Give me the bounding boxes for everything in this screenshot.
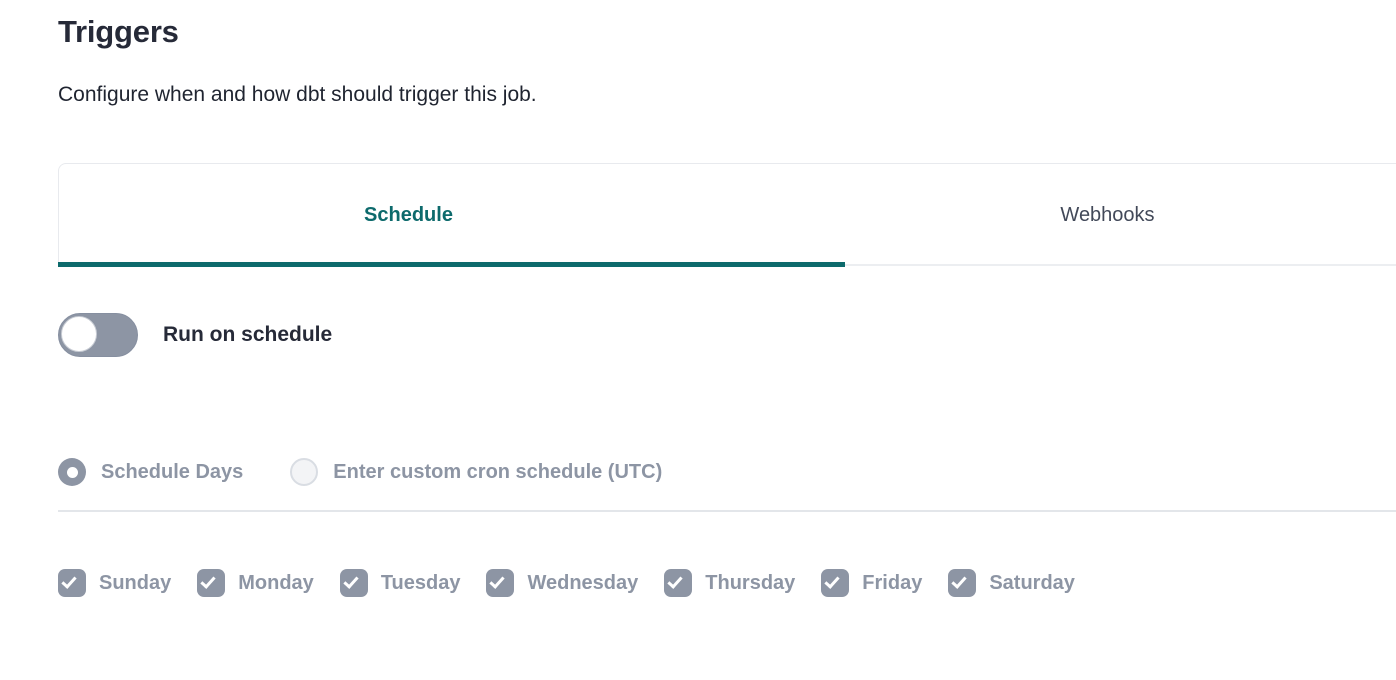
day-label-tuesday: Tuesday [381,572,461,595]
day-checkbox-friday[interactable]: Friday [821,569,922,597]
tab-strip: Schedule Webhooks [59,164,1396,267]
tab-active-indicator [58,262,845,267]
tab-webhooks[interactable]: Webhooks [758,164,1396,267]
day-checkbox-tuesday[interactable]: Tuesday [340,569,461,597]
run-on-schedule-toggle[interactable] [58,313,138,357]
day-label-saturday: Saturday [989,572,1075,595]
checkbox-checked-icon[interactable] [664,569,692,597]
run-on-schedule-label: Run on schedule [163,323,332,347]
checkbox-checked-icon[interactable] [948,569,976,597]
day-checkbox-sunday[interactable]: Sunday [58,569,171,597]
day-label-monday: Monday [238,572,314,595]
day-checkbox-monday[interactable]: Monday [197,569,314,597]
schedule-days-row: Sunday Monday Tuesday Wednesday Thursday… [58,569,1075,597]
run-on-schedule-row: Run on schedule [58,313,332,357]
page-title: Triggers [58,12,179,52]
schedule-mode-radio-group: Schedule Days Enter custom cron schedule… [58,458,662,486]
radio-option-custom-cron[interactable]: Enter custom cron schedule (UTC) [290,458,662,486]
radio-option-schedule-days[interactable]: Schedule Days [58,458,243,486]
day-label-thursday: Thursday [705,572,795,595]
checkbox-checked-icon[interactable] [340,569,368,597]
checkbox-checked-icon[interactable] [58,569,86,597]
day-checkbox-saturday[interactable]: Saturday [948,569,1075,597]
toggle-knob [61,316,97,352]
triggers-page: Triggers Configure when and how dbt shou… [0,0,1396,680]
day-label-friday: Friday [862,572,922,595]
triggers-tab-card: Schedule Webhooks [58,163,1396,267]
checkbox-checked-icon[interactable] [486,569,514,597]
tab-schedule[interactable]: Schedule [59,164,758,267]
radio-unselected-icon[interactable] [290,458,318,486]
day-label-sunday: Sunday [99,572,171,595]
radio-selected-icon[interactable] [58,458,86,486]
checkbox-checked-icon[interactable] [821,569,849,597]
day-checkbox-wednesday[interactable]: Wednesday [486,569,638,597]
radio-label-schedule-days: Schedule Days [101,461,243,484]
checkbox-checked-icon[interactable] [197,569,225,597]
day-label-wednesday: Wednesday [527,572,638,595]
radio-label-custom-cron: Enter custom cron schedule (UTC) [333,461,662,484]
day-checkbox-thursday[interactable]: Thursday [664,569,795,597]
section-divider [58,510,1396,512]
page-subtitle: Configure when and how dbt should trigge… [58,80,537,110]
